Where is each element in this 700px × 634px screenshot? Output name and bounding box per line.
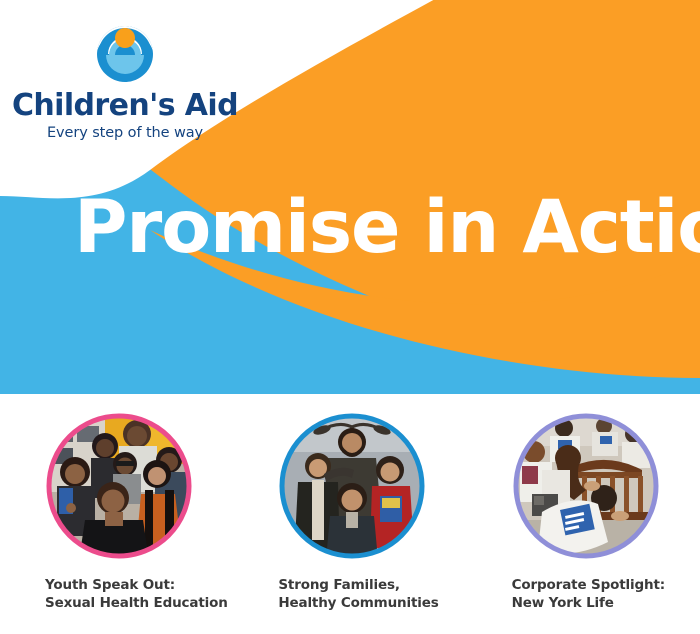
- youth-group-photo: [45, 412, 193, 560]
- story-caption-strong-families: Strong Families, Healthy Communities: [278, 576, 466, 612]
- story-card-corporate-spotlight[interactable]: Corporate Spotlight: New York Life: [467, 394, 700, 634]
- story-photo-youth-group[interactable]: [45, 412, 193, 560]
- logo-tagline: Every step of the way: [0, 126, 250, 142]
- volunteers-photo: [512, 412, 660, 560]
- story-photo-family[interactable]: [278, 412, 426, 560]
- logo-wordmark: Children's Aid: [0, 90, 250, 122]
- story-card-youth-speak-out[interactable]: Youth Speak Out: Sexual Health Education: [0, 394, 233, 634]
- story-card-strong-families[interactable]: Strong Families, Healthy Communities: [233, 394, 466, 634]
- family-portrait-photo: [278, 412, 426, 560]
- children-aid-circle-mark-icon: [90, 14, 160, 84]
- story-caption-youth-speak-out: Youth Speak Out: Sexual Health Education: [45, 576, 233, 612]
- brand-logo[interactable]: Children's Aid Every step of the way: [0, 14, 250, 141]
- hero-banner: Children's Aid Every step of the way Pro…: [0, 0, 700, 394]
- hero-title: Promise in Action: [74, 191, 700, 264]
- story-cards-row: Youth Speak Out: Sexual Health Education: [0, 394, 700, 634]
- story-caption-corporate-spotlight: Corporate Spotlight: New York Life: [512, 576, 700, 612]
- story-photo-volunteers[interactable]: [512, 412, 660, 560]
- newsletter-header-page: Children's Aid Every step of the way Pro…: [0, 0, 700, 634]
